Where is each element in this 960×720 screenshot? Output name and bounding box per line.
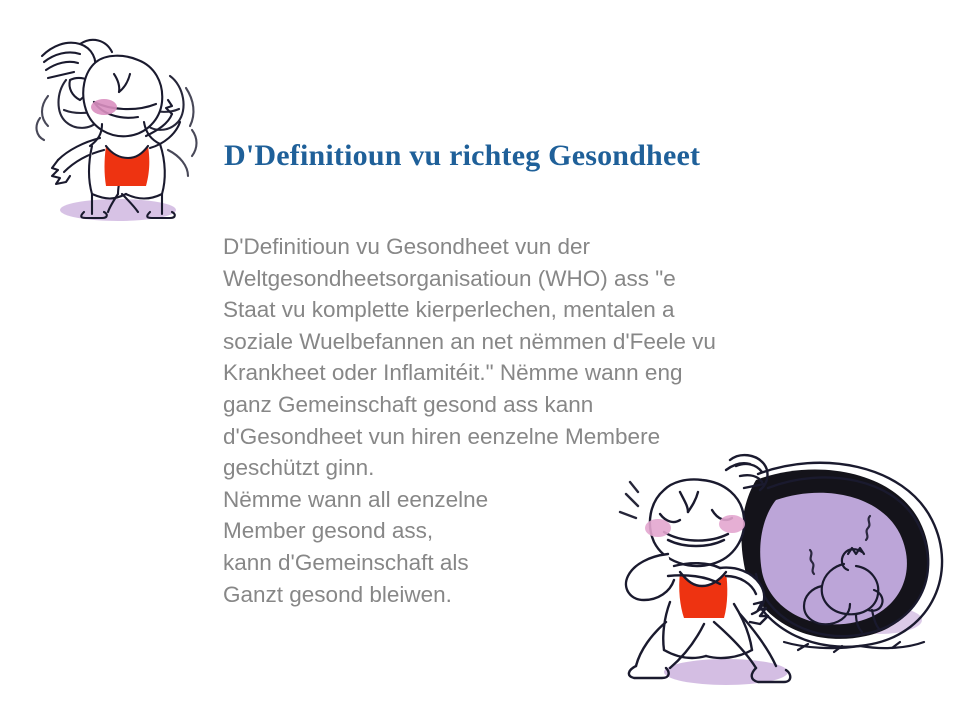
- slide-canvas: D'Definitioun vu richteg Gesondheet D'De…: [0, 0, 960, 720]
- left-figure-red-vest: [105, 146, 150, 186]
- body-line: Member gesond ass,: [223, 515, 843, 547]
- body-line: geschützt ginn.: [223, 452, 843, 484]
- body-line: Weltgesondheetsorganisatioun (WHO) ass "…: [223, 263, 843, 295]
- left-figure-shadow: [60, 199, 176, 221]
- body-line: D'Definitioun vu Gesondheet vun der: [223, 231, 843, 263]
- body-line: Staat vu komplette kierperlechen, mental…: [223, 294, 843, 326]
- body-line: soziale Wuelbefannen an net nëmmen d'Fee…: [223, 326, 843, 358]
- right-scene-shadows: [664, 606, 922, 685]
- body-line: Nëmme wann all eenzelne: [223, 484, 843, 516]
- body-line: Krankheet oder Inflamitéit." Nëmme wann …: [223, 357, 843, 389]
- body-line: d'Gesondheet vun hiren eenzelne Membere: [223, 421, 843, 453]
- body-line: kann d'Gemeinschaft als: [223, 547, 843, 579]
- body-text-block: D'Definitioun vu Gesondheet vun der Welt…: [223, 231, 843, 610]
- cartoon-figure-exercising-illustration: [18, 18, 218, 228]
- body-line: ganz Gemeinschaft gesond ass kann: [223, 389, 843, 421]
- body-line: Ganzt gesond bleiwen.: [223, 579, 843, 611]
- page-title: D'Definitioun vu richteg Gesondheet: [224, 138, 924, 174]
